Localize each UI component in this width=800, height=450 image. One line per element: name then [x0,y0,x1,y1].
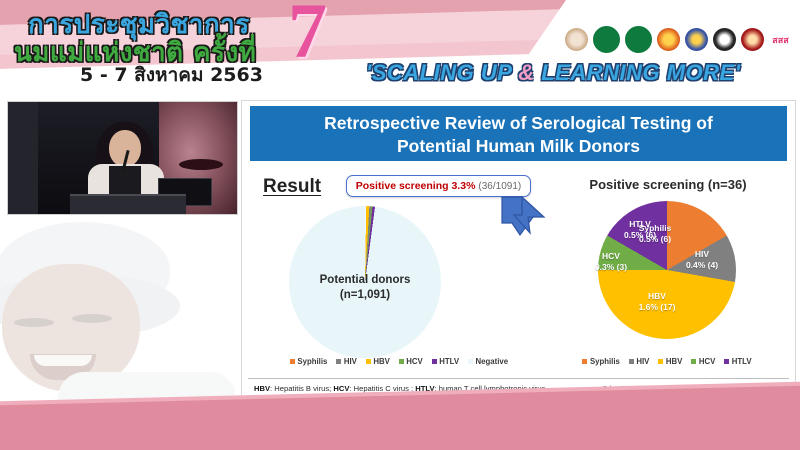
legend-swatch-hbv [366,359,371,364]
legend-swatch-hiv-right [629,359,634,364]
slice-label-hcv: HCV 0.3% (3) [590,251,632,273]
conference-edition-number: 7 [288,0,327,70]
presentation-slide: Retrospective Review of Serological Test… [241,100,796,404]
abbr-hbv-def: : Hepatitis B virus; [270,384,333,393]
legend-item-negative: Negative [468,357,508,366]
callout-percent: Positive screening 3.3% [356,180,476,192]
presenter-podium [70,194,186,215]
legend-item-hcv: HCV [399,357,423,366]
right-pie-title: Positive screening (n=36) [568,177,768,192]
result-heading: Result [263,176,321,198]
legend-swatch-syphilis-right [582,359,587,364]
legend-swatch-hcv-right [691,359,696,364]
legend-label-hiv: HIV [344,357,357,366]
thaihealth-sss-logo: สสส [769,28,792,51]
blue-arrow-icon [500,193,548,239]
presenter-video-thumbnail[interactable] [7,101,238,215]
legend-item-syphilis-right: Syphilis [582,357,619,366]
slice-label-hiv: HIV 0.4% (4) [679,249,725,271]
legend-label-hiv-right: HIV [636,357,649,366]
legend-swatch-htlv-right [724,359,729,364]
thai-royal-emblem-logo [685,28,708,51]
red-royal-seal-logo [741,28,764,51]
screenshot-root: การประชุมวิชาการ นมแม่แห่งชาติ ครั้งที่ … [0,0,800,450]
tagline-ampersand: & [518,60,534,85]
legend-swatch-hiv [336,359,341,364]
slice-label-hbv-name: HBV [632,291,682,302]
left-pie-label-line2: (n=1,091) [289,288,441,303]
legend-label-negative: Negative [476,357,509,366]
slice-label-hiv-value: 0.4% (4) [679,260,725,271]
legend-label-syphilis-right: Syphilis [590,357,620,366]
royal-college-logo [657,28,680,51]
left-pie-legend: Syphilis HIV HBV HCV HTLV Negative [279,357,519,366]
legend-item-hcv-right: HCV [691,357,715,366]
legend-label-htlv: HTLV [439,357,459,366]
tagline-part2: LEARNING MORE' [535,60,741,85]
legend-label-hcv: HCV [406,357,422,366]
slice-label-hbv-value: 1.6% (17) [632,302,682,313]
left-pie-label-line1: Potential donors [289,273,441,288]
slice-label-hbv: HBV 1.6% (17) [632,291,682,313]
abbr-hbv: HBV [254,384,270,393]
legend-swatch-negative [468,359,473,364]
abbr-hcv: HCV [333,384,349,393]
slide-title-line2: Potential Human Milk Donors [250,135,787,158]
slice-label-hcv-name: HCV [590,251,632,262]
legend-label-syphilis: Syphilis [297,357,327,366]
legend-label-hbv-right: HBV [666,357,682,366]
sponsor-logos-row: สสส [565,26,792,53]
legend-swatch-syphilis [290,359,295,364]
child-eye-right [72,314,112,323]
right-pie-legend: Syphilis HIV HBV HCV HTLV [542,357,792,366]
slice-label-htlv-name: HTLV [617,219,663,230]
conference-tagline: 'SCALING UP & LEARNING MORE' [366,60,740,86]
legend-swatch-hbv-right [658,359,663,364]
legend-item-hbv: HBV [366,357,390,366]
legend-label-htlv-right: HTLV [732,357,752,366]
callout-fraction: (36/1091) [478,181,521,192]
legend-item-htlv-right: HTLV [724,357,751,366]
left-pie-center-label: Potential donors (n=1,091) [289,273,441,303]
slice-label-htlv-value: 0.5% (6) [617,230,663,241]
conference-date-thai: 5 - 7 สิงหาคม 2563 [80,60,263,90]
ministry-public-health-logo [593,26,620,53]
university-seal-logo [713,28,736,51]
conference-header-banner: การประชุมวิชาการ นมแม่แห่งชาติ ครั้งที่ … [0,0,800,96]
legend-item-hiv-right: HIV [629,357,650,366]
tagline-part1: 'SCALING UP [366,60,518,85]
department-health-logo [625,26,652,53]
video-overlay-eye [179,159,223,170]
child-teeth [34,355,92,366]
legend-swatch-hcv [399,359,404,364]
legend-item-syphilis: Syphilis [290,357,327,366]
legend-item-htlv: HTLV [432,357,459,366]
legend-item-hbv-right: HBV [658,357,682,366]
legend-item-hiv: HIV [336,357,357,366]
legend-label-hcv-right: HCV [699,357,715,366]
child-eye-left [14,318,54,327]
video-side-panel [8,102,38,214]
mother-child-emblem-logo [565,28,588,51]
slice-label-hiv-name: HIV [679,249,725,260]
slide-title: Retrospective Review of Serological Test… [250,106,787,161]
slice-label-hcv-value: 0.3% (3) [590,262,632,273]
slice-label-htlv: HTLV 0.5% (6) [617,219,663,241]
legend-label-hbv: HBV [373,357,389,366]
slide-title-line1: Retrospective Review of Serological Test… [250,112,787,135]
legend-swatch-htlv [432,359,437,364]
